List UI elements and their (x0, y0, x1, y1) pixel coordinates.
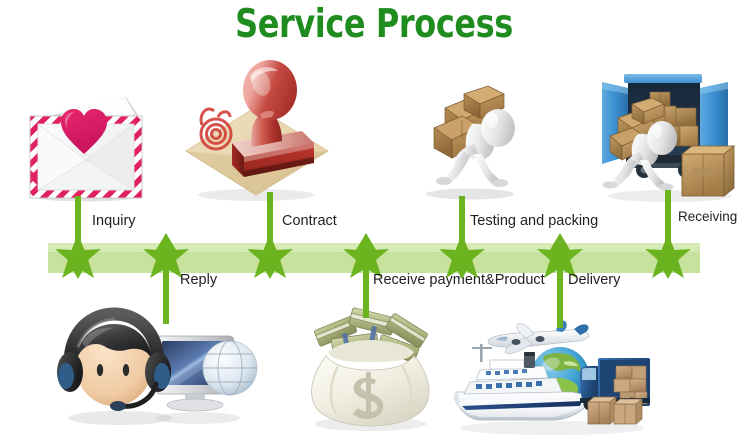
arrow-down-step-1 (63, 256, 93, 280)
step-label-delivery: Delivery (568, 272, 620, 288)
arrow-up-step-6 (545, 232, 575, 256)
step-label-inquiry: Inquiry (92, 213, 136, 229)
rubber-stamp-icon (178, 55, 336, 205)
step-label-receiving: Receiving (678, 209, 737, 224)
arrow-up-step-4 (351, 232, 381, 256)
arrow-down-step-5 (447, 256, 477, 280)
step-label-reply: Reply (180, 272, 217, 288)
money-bag-icon (298, 296, 444, 434)
envelope-heart-icon (14, 62, 154, 202)
arrow-down-step-3 (255, 256, 285, 280)
worker-carrying-boxes-icon (412, 62, 530, 204)
shipping-logistics-icon (452, 318, 652, 436)
arrow-up-step-2 (151, 232, 181, 256)
step-label-contract: Contract (282, 213, 337, 229)
step-label-testing-and-packing: Testing and packing (470, 213, 598, 229)
page-title: Service Process (67, 2, 680, 47)
arrow-down-step-7 (653, 256, 683, 280)
service-process-infographic: Service Process (0, 0, 748, 436)
truck-loading-boxes-icon (588, 56, 746, 206)
customer-service-headset-icon (52, 302, 244, 434)
